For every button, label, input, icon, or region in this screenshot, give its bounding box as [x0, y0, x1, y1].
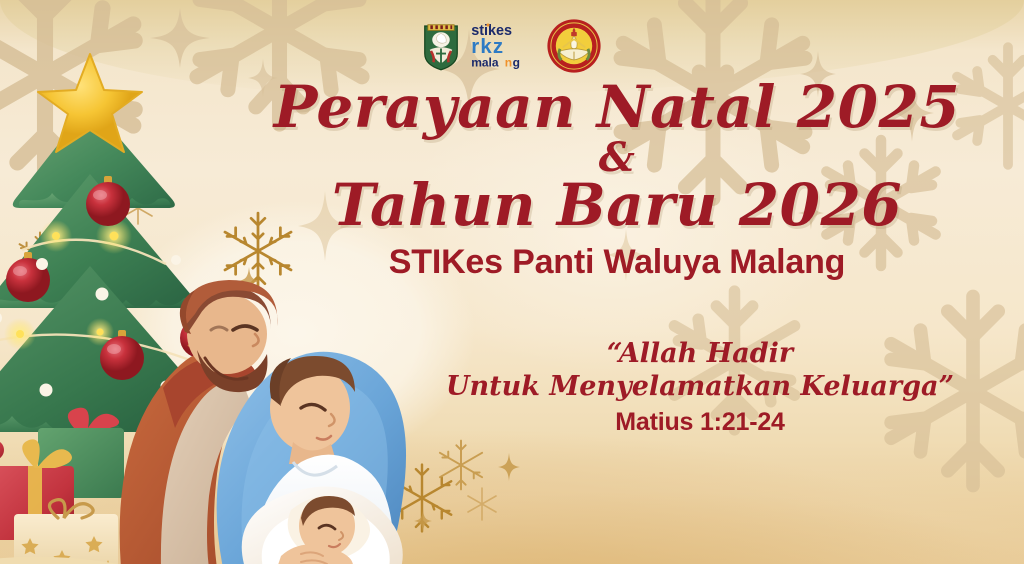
- panti-waluya-seal-logo: [546, 18, 602, 74]
- stikes-rkz-wordmark: stikes rkz mala n g: [470, 22, 536, 70]
- headline-line-2: Tahun Baru 2026: [222, 176, 1012, 234]
- christmas-banner: stikes rkz mala n g: [0, 0, 1024, 564]
- holy-family-illustration: [105, 238, 435, 564]
- verse-line-1: “Allah Hadir: [400, 338, 1000, 371]
- headline-line-1: Perayaan Natal 2025: [222, 78, 1012, 136]
- svg-text:mala: mala: [471, 55, 499, 69]
- stikes-rkz-shield-logo: [422, 21, 460, 71]
- logo-row: stikes rkz mala n g: [0, 18, 1024, 74]
- svg-text:n: n: [505, 55, 512, 69]
- institution-subtitle: STIKes Panti Waluya Malang: [222, 243, 1012, 282]
- gold-snowflake-icon: [462, 484, 502, 524]
- verse-reference: Matius 1:21-24: [400, 408, 1000, 437]
- gold-snowflake-icon: [498, 452, 520, 482]
- svg-text:g: g: [513, 55, 520, 69]
- headline-block: Perayaan Natal 2025 & Tahun Baru 2026 ST…: [222, 78, 1012, 282]
- verse-block: “Allah Hadir Untuk Menyelamatkan Keluarg…: [400, 338, 1000, 437]
- verse-line-2: Untuk Menyelamatkan Keluarga”: [400, 371, 1000, 404]
